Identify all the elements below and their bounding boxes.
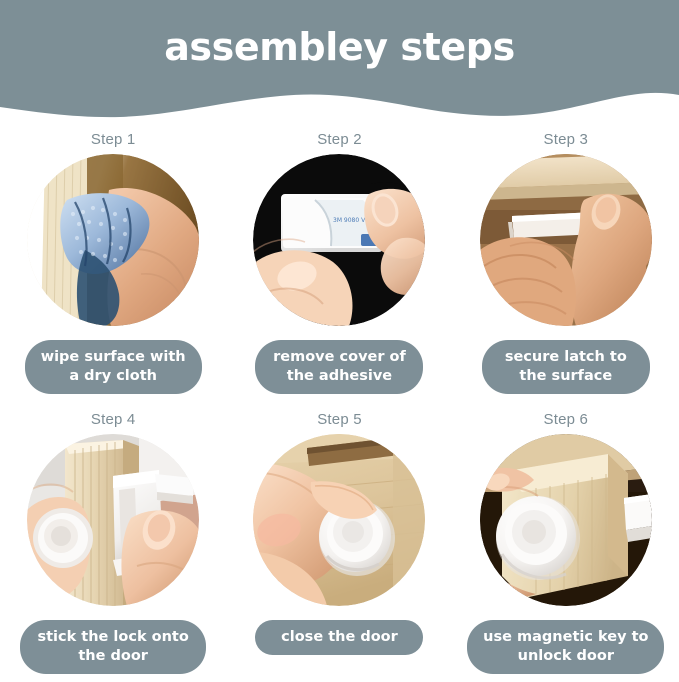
step-caption-4: stick the lock onto the door xyxy=(20,620,206,674)
step-label-4: Step 4 xyxy=(91,411,136,428)
step-6-photo-unlock-door xyxy=(480,434,652,606)
step-card-5: Step 5 xyxy=(226,402,452,682)
step-3-photo-secure-latch xyxy=(480,154,652,326)
step-card-3: Step 3 xyxy=(453,122,679,402)
header-banner: assembley steps xyxy=(0,0,679,125)
steps-grid: Step 1 xyxy=(0,122,679,682)
step-1-photo-wipe-surface xyxy=(27,154,199,326)
step-card-1: Step 1 xyxy=(0,122,226,402)
step-label-2: Step 2 xyxy=(317,131,362,148)
step-card-6: Step 6 xyxy=(453,402,679,682)
step-card-2: Step 2 xyxy=(226,122,452,402)
step-caption-2: remove cover of the adhesive xyxy=(255,340,423,394)
step-label-1: Step 1 xyxy=(91,131,136,148)
step-label-3: Step 3 xyxy=(544,131,589,148)
step-caption-1: wipe surface with a dry cloth xyxy=(25,340,202,394)
step-caption-5: close the door xyxy=(255,620,423,655)
step-caption-3: secure latch to the surface xyxy=(482,340,650,394)
step-label-5: Step 5 xyxy=(317,411,362,428)
page-title: assembley steps xyxy=(0,24,679,70)
step-card-4: Step 4 xyxy=(0,402,226,682)
step-5-photo-close-door xyxy=(253,434,425,606)
step-caption-6: use magnetic key to unlock door xyxy=(467,620,664,674)
step-2-photo-remove-adhesive-cover: 3M 9080 VHB xyxy=(253,154,425,326)
step-label-6: Step 6 xyxy=(544,411,589,428)
step-4-photo-stick-lock xyxy=(27,434,199,606)
